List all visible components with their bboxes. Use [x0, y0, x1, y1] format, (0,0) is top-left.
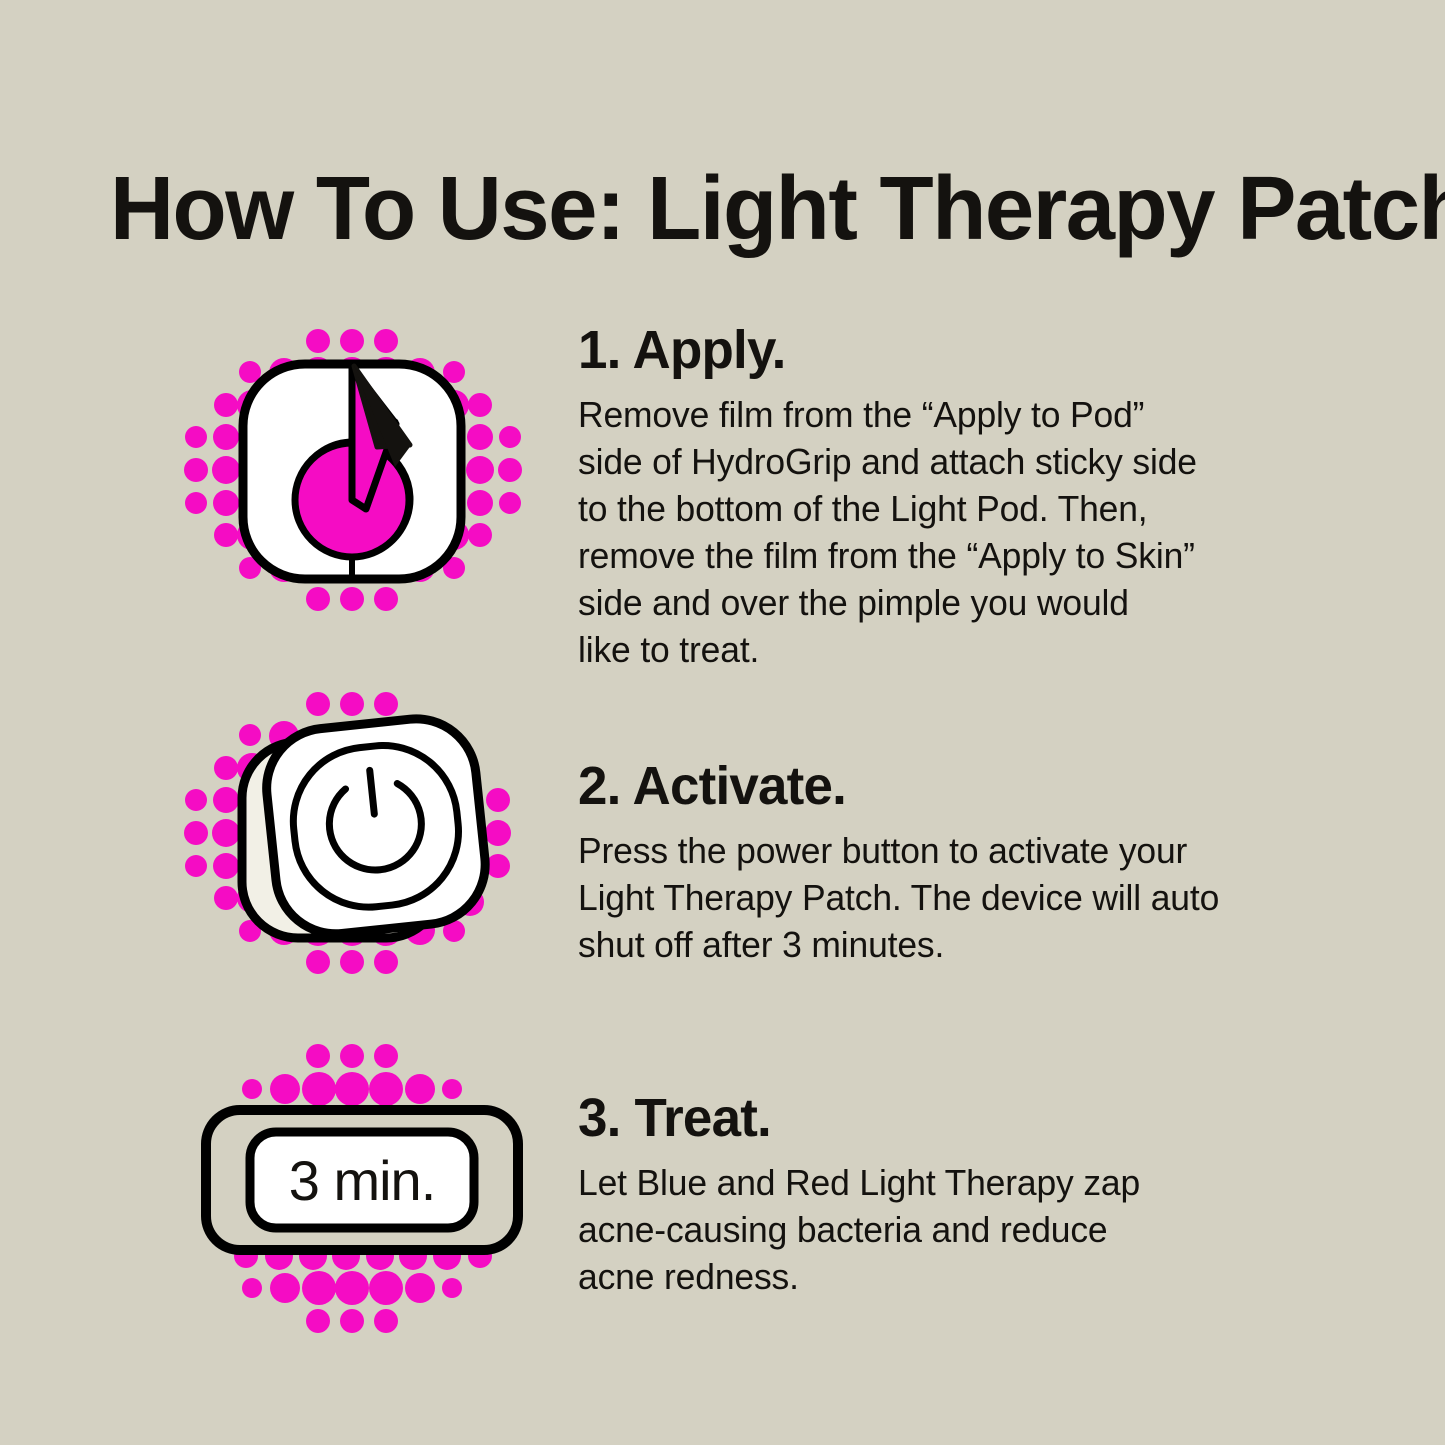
timer-patch-art: 3 min.: [180, 1030, 580, 1370]
infographic-page: How To Use: Light Therapy Patch: [0, 0, 1445, 1445]
step-1-body: Remove film from the “Apply to Pod” side…: [578, 391, 1346, 673]
timer-three-minutes-icon: 3 min.: [180, 1030, 580, 1370]
hydrogrip-patch-art: [180, 304, 580, 644]
hydrogrip-peel-icon: [180, 304, 580, 644]
step-1-text-cell: 1. Apply. Remove film from the “Apply to…: [578, 322, 1358, 673]
power-pod-art: [180, 662, 580, 1002]
page-title: How To Use: Light Therapy Patch: [110, 164, 1351, 254]
step-2-icon-cell: [180, 680, 580, 1020]
step-1-icon-cell: [180, 310, 580, 670]
step-3-body: Let Blue and Red Light Therapy zap acne-…: [578, 1159, 1346, 1300]
step-2-body: Press the power button to activate your …: [578, 827, 1346, 968]
step-row-activate: 2. Activate. Press the power button to a…: [0, 680, 1445, 1020]
power-button-pod-icon: [180, 662, 580, 1002]
step-2-text-cell: 2. Activate. Press the power button to a…: [578, 758, 1358, 968]
step-3-text-cell: 3. Treat. Let Blue and Red Light Therapy…: [578, 1090, 1358, 1300]
step-3-icon-cell: 3 min.: [180, 1030, 580, 1370]
step-row-apply: 1. Apply. Remove film from the “Apply to…: [0, 310, 1445, 670]
timer-label: 3 min.: [289, 1149, 436, 1212]
step-row-treat: 3 min. 3. Treat. Let Blue and Red Light …: [0, 1030, 1445, 1370]
step-3-heading: 3. Treat.: [578, 1090, 1342, 1147]
step-1-heading: 1. Apply.: [578, 322, 1342, 379]
step-2-heading: 2. Activate.: [578, 758, 1342, 815]
